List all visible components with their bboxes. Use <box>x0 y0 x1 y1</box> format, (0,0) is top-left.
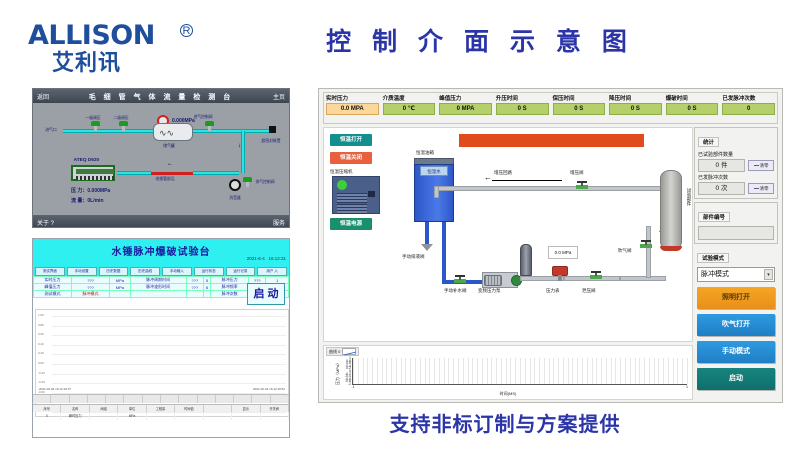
bench-chart-gridline <box>52 374 286 375</box>
hmi-footer: 关于 ? 服务 <box>33 215 289 228</box>
spreadsheet-toolbar-button-0[interactable] <box>33 395 51 403</box>
registered-mark-icon: R <box>180 24 193 37</box>
chart-gridline <box>496 358 497 384</box>
chart-gridline <box>625 358 626 384</box>
spreadsheet-toolbar-button-11[interactable] <box>234 395 252 403</box>
chart-gridline <box>439 358 440 384</box>
scada-main-window: 实时压力0.0 MPA介质温度0 ℃峰值压力0 MPA升压时间0 S保压时间0 … <box>318 88 783 403</box>
status-cell-label: 保压时间 <box>553 94 606 102</box>
chart-gridline <box>677 358 678 384</box>
chart-gridline <box>468 358 469 384</box>
readout-flow: 流 量：0L/min <box>71 197 104 204</box>
hmi-capillary-panel: 返回 毛 细 管 气 体 流 量 检 测 台 主页 进气口 一级调压 二级调压 … <box>32 88 290 228</box>
spreadsheet-toolbar-button-1[interactable] <box>51 395 69 403</box>
chart-gridline <box>620 358 621 384</box>
label-gauge: 压力表 <box>546 288 560 294</box>
chart-gridline <box>615 358 616 384</box>
start-button[interactable]: 启动 <box>697 368 775 390</box>
ateq-device <box>71 165 115 181</box>
chart-gridline <box>530 358 531 384</box>
bench-tab-0[interactable]: 测试界面 <box>35 267 65 276</box>
bench-chart-gridline <box>52 316 286 317</box>
bench-tab-bar: 测试界面手动设置历史数据历史曲线手动输入运行状态运行记录用户 入 <box>33 267 289 276</box>
chart-gridline <box>377 358 378 384</box>
chart-gridline <box>606 358 607 384</box>
specimen-foot-icon <box>660 246 682 251</box>
chart-gridline <box>668 358 669 384</box>
bench-time: 16:12:31 <box>268 256 286 261</box>
spreadsheet-toolbar-button-4[interactable] <box>106 395 124 403</box>
chart-gridline <box>563 358 564 384</box>
label-air-tank: 储气罐 <box>163 143 174 149</box>
bench-chart-ytick: 0.80 <box>38 323 44 327</box>
manual-mode-button[interactable]: 手动模式 <box>697 341 775 363</box>
spreadsheet-column-header: 时间值 <box>175 405 203 412</box>
chart-gridline <box>630 358 631 384</box>
bench-chart-ytick: 0.60 <box>38 332 44 336</box>
constant-temp-off-button[interactable]: 恒温关闭 <box>330 152 372 164</box>
stat-parts-value: 0 件 <box>698 159 745 172</box>
bench-chart-ytick: -0.20 <box>38 371 45 375</box>
chart-gridline <box>491 358 492 384</box>
status-cell-label: 实时压力 <box>326 94 379 102</box>
bench-chart-gridline <box>52 326 286 327</box>
label-drain-valve: 手动排液阀 <box>402 254 425 260</box>
spreadsheet-toolbar-button-5[interactable] <box>124 395 142 403</box>
reset-parts-label: 清零 <box>760 163 769 168</box>
chart-gridline <box>372 358 373 384</box>
chart-gridline <box>611 358 612 384</box>
table-cell: 5 <box>203 277 210 284</box>
bench-tab-3[interactable]: 历史曲线 <box>130 267 160 276</box>
table-cell: 脉冲次数 <box>211 291 249 298</box>
label-blow-valve: 吹气阀 <box>618 248 632 254</box>
spreadsheet-cell[interactable]: 0 <box>33 412 61 420</box>
bench-tab-4[interactable]: 手动输入 <box>162 267 192 276</box>
spreadsheet-cell[interactable] <box>204 412 232 420</box>
chart-gridline <box>520 358 521 384</box>
bench-tab-2[interactable]: 历史数据 <box>99 267 129 276</box>
blow-toggle-button[interactable]: 吹气打开 <box>697 314 775 336</box>
label-muffler: 消音器 <box>229 195 240 201</box>
chart-gridline <box>367 358 368 384</box>
label-boost-valve: 增压阀 <box>570 170 584 176</box>
chart-gridline <box>410 358 411 384</box>
muffler-icon <box>229 179 241 191</box>
status-cell-value: 0 S <box>609 103 662 115</box>
part-number-panel: 部件编号 <box>694 202 778 244</box>
spreadsheet-cell[interactable] <box>175 412 203 420</box>
hmi-diagram: 进气口 一级调压 二级调压 0.000MPa ∿∿ 储气罐 进气控制阀 超密封装… <box>33 103 289 215</box>
constant-temp-power-button[interactable]: 恒温电源 <box>330 218 372 230</box>
chart-gridline <box>510 358 511 384</box>
chart-gridline <box>391 358 392 384</box>
bench-header: 水锤脉冲爆破试验台 2021-6-4 16:12:31 <box>33 239 289 267</box>
chart-legend-swatch-icon <box>342 348 356 355</box>
table-cell: ??? <box>72 284 110 291</box>
chart-legend[interactable]: 曲线 0 <box>326 347 359 356</box>
status-cell-7: 已发脉冲次数0 <box>720 93 777 123</box>
label-regulator-2: 二级调压 <box>113 115 128 121</box>
status-cell-1: 介质温度0 ℃ <box>381 93 438 123</box>
test-mode-label: 试验模式 <box>697 253 729 263</box>
spreadsheet-toolbar-button-2[interactable] <box>70 395 88 403</box>
chart-gridline <box>477 358 478 384</box>
chart-gridline <box>639 358 640 384</box>
table-cell: 6 <box>203 284 210 291</box>
spreadsheet-column-header: 名称 <box>61 405 89 412</box>
chart-gridline <box>482 358 483 384</box>
bench-datetime: 2021-6-4 16:12:31 <box>247 256 286 261</box>
chart-gridline <box>601 358 602 384</box>
chart-gridline <box>429 358 430 384</box>
table-cell <box>186 291 203 298</box>
pipe-boost-riser <box>434 186 439 198</box>
chart-gridline <box>353 358 354 384</box>
bench-tab-1[interactable]: 手动设置 <box>67 267 97 276</box>
lighting-toggle-button[interactable]: 照明打开 <box>697 287 775 309</box>
spreadsheet-toolbar-button-10[interactable] <box>216 395 234 403</box>
table-cell: ??? <box>186 284 203 291</box>
label-boost-loop: 增压回路 <box>494 170 512 176</box>
chart-gridline <box>682 358 683 384</box>
statistics-title: 统计 <box>698 137 719 147</box>
chart-gridline <box>506 358 507 384</box>
chart-x-axis-label: 时间(MS) <box>324 391 692 397</box>
part-number-label: 部件编号 <box>698 212 730 222</box>
bench-start-button[interactable]: 启 动 <box>247 283 285 305</box>
label-specimen: 试验部件 <box>686 188 692 206</box>
bench-timestamp-right: 2021-06-04 16:12:18:52 <box>253 387 285 391</box>
bench-tab-5[interactable]: 运行状态 <box>194 267 224 276</box>
valve-intake-control[interactable] <box>205 121 214 131</box>
status-cell-label: 峰值压力 <box>439 94 492 102</box>
boost-flow-line <box>492 180 562 181</box>
spreadsheet-toolbar[interactable] <box>33 394 289 403</box>
stat-pulses-label: 已发脉冲次数 <box>698 174 774 181</box>
spreadsheet-column-header: 工程量 <box>147 405 175 412</box>
bench-chart-gridline <box>52 354 286 355</box>
bench-chart-gridline <box>52 345 286 346</box>
spreadsheet-column-header: 开关阀 <box>261 405 289 412</box>
status-cell-label: 介质温度 <box>383 94 436 102</box>
end-cap-icon <box>269 126 276 133</box>
page-title: 控 制 介 面 示 意 图 <box>315 22 645 58</box>
status-cell-value: 0 <box>722 103 775 115</box>
table-cell: ??? <box>186 277 203 284</box>
spreadsheet-column-header: 单位 <box>118 405 146 412</box>
bench-chart-ytick: 0.40 <box>38 342 44 346</box>
pipe-tank-outlet <box>442 222 446 280</box>
spreadsheet-header-row: 序号名称阀组单位工程量时间值显示开关阀 <box>33 404 289 412</box>
pipe-to-capillary <box>117 171 151 175</box>
statistics-panel: 统计 已试验部件数量 0 件 清零 已发脉冲次数 0 次 清零 <box>694 127 778 199</box>
bench-tab-6[interactable]: 运行记录 <box>226 267 256 276</box>
table-cell: ??? <box>72 277 110 284</box>
chart-gridline <box>592 358 593 384</box>
spreadsheet-toolbar-button-13[interactable] <box>271 395 289 403</box>
chart-gridline <box>558 358 559 384</box>
spreadsheet-cell[interactable]: MPa <box>118 412 146 420</box>
spreadsheet-toolbar-button-3[interactable] <box>88 395 106 403</box>
status-cell-label: 升压时间 <box>496 94 549 102</box>
chart-gridline <box>396 358 397 384</box>
table-cell: 脉冲压力 <box>211 277 249 284</box>
pipe-vertical-right <box>241 131 245 173</box>
label-pump: 变频压力泵 <box>478 288 501 294</box>
chart-gridline <box>415 358 416 384</box>
spreadsheet-column-header: 显示 <box>232 405 260 412</box>
spreadsheet-toolbar-button-6[interactable] <box>143 395 161 403</box>
chart-gridline <box>596 358 597 384</box>
chart-gridline <box>549 358 550 384</box>
chart-gridline <box>534 358 535 384</box>
chart-gridline <box>382 358 383 384</box>
bench-chart-ytick: 0.20 <box>38 351 44 355</box>
water-hammer-bench-panel: 水锤脉冲爆破试验台 2021-6-4 16:12:31 测试界面手动设置历史数据… <box>32 238 290 438</box>
chart-gridline <box>544 358 545 384</box>
label-compressor: 恒温压缩机 <box>330 169 353 175</box>
spreadsheet-toolbar-button-9[interactable] <box>198 395 216 403</box>
chart-gridline <box>515 358 516 384</box>
chart-gridline <box>572 358 573 384</box>
chart-gridline <box>363 358 364 384</box>
spreadsheet-cell[interactable] <box>232 412 260 420</box>
blow-valve-icon[interactable] <box>640 240 652 251</box>
chart-y-tick: 1 <box>349 356 351 360</box>
label-capillary: 毛细管部品 <box>156 176 175 182</box>
chart-gridline <box>386 358 387 384</box>
chart-y-axis-label: 压力（MPa） <box>335 360 341 384</box>
pipe-boost-loop <box>434 186 666 191</box>
chart-gridline <box>501 358 502 384</box>
label-fill-valve: 手动补水阀 <box>444 288 467 294</box>
table-cell: 测试模式 <box>34 291 72 298</box>
table-cell: MPa <box>110 284 131 291</box>
label-intake-valve: 进气控制阀 <box>194 114 213 120</box>
test-specimen-vessel-icon <box>660 170 682 250</box>
compressor-unit-icon <box>332 176 380 214</box>
chart-gridline <box>539 358 540 384</box>
status-cell-5: 降压时间0 S <box>607 93 664 123</box>
table-cell <box>203 291 210 298</box>
constant-temp-on-button[interactable]: 恒温打开 <box>330 134 372 146</box>
control-sidebar: 统计 已试验部件数量 0 件 清零 已发脉冲次数 0 次 清零 部件编号 试验模… <box>694 127 778 398</box>
chart-gridline <box>420 358 421 384</box>
pipe-tank-drain <box>425 222 429 246</box>
bench-chart-ytick: -0.40 <box>38 380 45 384</box>
flow-arrow-down-icon: ↓ <box>238 143 241 149</box>
bench-chart-gridline <box>52 364 286 365</box>
hmi-service-button[interactable]: 服务 <box>273 218 285 227</box>
test-mode-panel: 试验模式 脉冲模式 ▾ <box>694 247 778 282</box>
status-cell-value: 0 S <box>666 103 719 115</box>
variable-frequency-pump-icon <box>482 272 518 288</box>
table-cell: 脉冲周期时间 <box>130 277 186 284</box>
chart-plot-area: -1-0.8-0.6-0.4-0.200.20.40.60.81-11 <box>352 358 687 385</box>
status-cell-3: 升压时间0 S <box>494 93 551 123</box>
pressure-chart: 曲线 0 压力（MPa） -1-0.8-0.6-0.4-0.200.20.40.… <box>323 345 693 400</box>
spreadsheet-column-header: 序号 <box>33 405 61 412</box>
hmi-title: 毛 细 管 气 体 流 量 检 测 台 <box>33 92 289 102</box>
chart-gridline <box>358 358 359 384</box>
status-cell-value: 0 S <box>553 103 606 115</box>
chart-gridline <box>463 358 464 384</box>
table-cell: 脉冲频率 <box>211 284 249 291</box>
tank-level-badge: 恒温水 <box>420 166 448 176</box>
chart-gridline <box>401 358 402 384</box>
spreadsheet-toolbar-button-12[interactable] <box>252 395 270 403</box>
valve-exhaust-control[interactable] <box>243 177 252 187</box>
chart-gridline <box>658 358 659 384</box>
label-regulator-1: 一级调压 <box>85 115 100 121</box>
status-cell-6: 爆破时间0 S <box>664 93 721 123</box>
spreadsheet-cell[interactable] <box>261 412 289 420</box>
drain-funnel-icon <box>421 244 433 251</box>
flow-arrow-left-icon: ← <box>167 161 173 167</box>
status-cell-value: 0 MPA <box>439 103 492 115</box>
bench-chart-ytick: 0.00 <box>38 361 44 365</box>
process-diagram: 恒温打开 恒温关闭 恒温压缩机 恒温电源 恒温油箱 恒温水 手动排液阀 手动补水… <box>323 127 693 342</box>
spreadsheet-column-header <box>204 405 232 412</box>
status-cell-label: 爆破时间 <box>666 94 719 102</box>
table-cell: 实时压力 <box>34 277 72 284</box>
table-cell <box>110 291 131 298</box>
pipe-from-capillary <box>193 171 239 175</box>
hmi-titlebar: 返回 毛 细 管 气 体 流 量 检 测 台 主页 <box>33 89 289 103</box>
spreadsheet-data-row[interactable]: 0瞬时压力MPa <box>33 412 289 420</box>
test-mode-value: 脉冲模式 <box>701 271 729 278</box>
brand-logo: ALLISON R 艾利讯 <box>28 22 208 80</box>
pipe-specimen-riser <box>646 226 651 278</box>
chart-gridline <box>687 358 688 384</box>
label-exhaust-valve: 排气控制阀 <box>256 179 275 185</box>
table-cell: MPa <box>110 277 131 284</box>
hmi-about-button[interactable]: 关于 ? <box>37 218 54 227</box>
chart-gridline <box>425 358 426 384</box>
status-cell-0: 实时压力0.0 MPA <box>324 93 381 123</box>
page-caption: 支持非标订制与方案提供 <box>330 408 680 437</box>
part-number-input[interactable] <box>698 226 774 240</box>
chart-gridline <box>582 358 583 384</box>
chart-gridline <box>487 358 488 384</box>
chart-gridline <box>448 358 449 384</box>
bench-chart-gridline <box>52 383 286 384</box>
bench-chart-gridline <box>52 335 286 336</box>
pipe-top-right <box>219 129 271 133</box>
bench-timestamp-left: 2021-06-04 16:12:18:37 <box>39 387 71 391</box>
chart-gridline <box>458 358 459 384</box>
label-ateq-device: ATEQ D520 <box>74 157 100 163</box>
chart-gridline <box>568 358 569 384</box>
accumulator-icon <box>520 244 532 276</box>
table-cell: 脉冲波形时间 <box>130 284 186 291</box>
capillary-specimen <box>151 172 193 175</box>
chart-gridline <box>434 358 435 384</box>
chart-x-tick: -1 <box>351 385 354 389</box>
valve-regulator-1[interactable] <box>91 121 100 131</box>
bench-chart-ytick: 1.00 <box>38 313 44 317</box>
compressor-led-icon <box>337 180 347 190</box>
spreadsheet-cell[interactable] <box>90 412 118 420</box>
chart-gridline <box>453 358 454 384</box>
chart-gridline <box>644 358 645 384</box>
spreadsheet-toolbar-button-7[interactable] <box>161 395 179 403</box>
table-cell: 峰值压力 <box>34 284 72 291</box>
air-tank-icon: ∿∿ <box>153 123 193 141</box>
chart-gridline <box>525 358 526 384</box>
label-outlet: 超密封装置 <box>262 138 281 144</box>
manual-fill-valve-icon[interactable] <box>454 275 466 286</box>
label-relief-valve-lower: 泄压阀 <box>582 288 596 294</box>
chart-gridline <box>577 358 578 384</box>
status-cell-4: 保压时间0 S <box>551 93 608 123</box>
label-inlet: 进气口 <box>45 127 56 133</box>
spreadsheet-toolbar-button-8[interactable] <box>179 395 197 403</box>
status-cell-2: 峰值压力0 MPA <box>437 93 494 123</box>
alarm-banner <box>459 134 644 147</box>
chart-gridline <box>553 358 554 384</box>
label-tank: 恒温油箱 <box>416 150 434 156</box>
boost-valve-icon[interactable] <box>576 181 588 192</box>
chart-gridline <box>663 358 664 384</box>
valve-regulator-2[interactable] <box>119 121 128 131</box>
status-cell-value: 0 ℃ <box>383 103 436 115</box>
reset-parts-button[interactable]: 清零 <box>748 160 774 171</box>
spreadsheet-cell[interactable]: 瞬时压力 <box>61 412 89 420</box>
boost-flow-arrow-left-icon: ← <box>484 174 492 182</box>
brand-name-cn: 艾利讯 <box>28 51 208 74</box>
chart-gridline <box>472 358 473 384</box>
chart-gridline <box>673 358 674 384</box>
spreadsheet-column-header: 阀组 <box>90 405 118 412</box>
readout-pressure: 压 力：0.000MPa <box>71 187 110 194</box>
bench-tab-7[interactable]: 用户 入 <box>257 267 287 276</box>
bench-date: 2021-6-4 <box>247 256 265 261</box>
test-mode-select[interactable]: 脉冲模式 ▾ <box>697 267 775 282</box>
reset-pulses-button[interactable]: 清零 <box>748 183 774 194</box>
status-cell-value: 0 S <box>496 103 549 115</box>
relief-valve-lower-icon[interactable] <box>590 271 602 282</box>
status-cell-value: 0.0 MPA <box>326 103 379 115</box>
status-bar: 实时压力0.0 MPA介质温度0 ℃峰值压力0 MPA升压时间0 S保压时间0 … <box>323 92 778 124</box>
chart-gridline <box>587 358 588 384</box>
table-cell: 脉冲模式 <box>72 291 110 298</box>
chart-gridline <box>405 358 406 384</box>
chart-gridline <box>444 358 445 384</box>
spreadsheet-cell[interactable] <box>147 412 175 420</box>
status-cell-label: 降压时间 <box>609 94 662 102</box>
chart-gridline <box>649 358 650 384</box>
stat-pulses-value: 0 次 <box>698 182 745 195</box>
table-cell <box>130 291 186 298</box>
chevron-down-icon[interactable]: ▾ <box>764 269 773 280</box>
chart-legend-label: 曲线 0 <box>329 349 340 355</box>
status-cell-label: 已发脉冲次数 <box>722 94 775 102</box>
reset-pulses-label: 清零 <box>760 186 769 191</box>
chart-gridline <box>635 358 636 384</box>
hmi-home-button[interactable]: 主页 <box>273 92 285 101</box>
stat-parts-label: 已试验部件数量 <box>698 151 774 158</box>
chart-gridline <box>654 358 655 384</box>
pipe-to-specimen <box>620 276 666 281</box>
chart-x-tick: 1 <box>686 385 688 389</box>
